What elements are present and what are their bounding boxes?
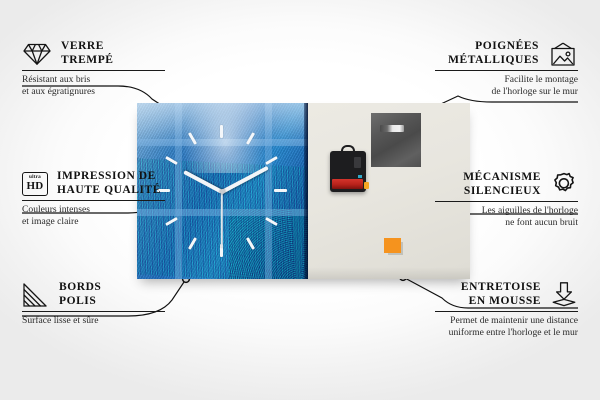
callout-rule [22, 200, 165, 201]
callout-title: IMPRESSION DE HAUTE QUALITÉ [57, 170, 161, 197]
callout-header-poignees: POIGNÉES MÉTALLIQUES [426, 40, 578, 67]
ultra-hd-icon-large-label: HD [26, 181, 43, 192]
ultra-hd-icon: ultra HD [22, 172, 48, 196]
callout-subtitle: Permet de maintenir une distance uniform… [426, 315, 578, 338]
callout-rule [435, 70, 578, 71]
callout-header-bords-polis: BORDS POLIS [22, 281, 174, 308]
callout-title: BORDS POLIS [59, 281, 101, 308]
callout-header-verre-trempe: VERRE TREMPÉ [22, 40, 174, 67]
callout-entretoise-en-mousse: ENTRETOISE EN MOUSSE Permet de maintenir… [426, 281, 578, 338]
callout-rule [435, 311, 578, 312]
callout-subtitle: Les aiguilles de l'horloge ne font aucun… [426, 205, 578, 228]
callout-impression-haute-qualite: ultra HD IMPRESSION DE HAUTE QUALITÉ Cou… [22, 170, 174, 227]
mechanism-indicator [358, 175, 362, 178]
callout-mecanisme-silencieux: MÉCANISME SILENCIEUX Les aiguilles de l'… [426, 171, 578, 228]
callout-title: VERRE TREMPÉ [61, 40, 114, 67]
diamond-icon [22, 41, 52, 67]
polished-edge-icon [22, 282, 50, 308]
callout-title: ENTRETOISE EN MOUSSE [461, 281, 541, 308]
infographic-canvas: VERRE TREMPÉ Résistant aux bris et aux é… [0, 0, 600, 400]
mechanism-hanging-loop [341, 145, 355, 155]
panel-bottom-shadow [308, 267, 470, 279]
clock-mechanism-part [330, 151, 366, 192]
foam-spacer-part [384, 238, 401, 253]
callout-rule [22, 70, 165, 71]
picture-hanger-icon [548, 41, 578, 67]
callout-title: POIGNÉES MÉTALLIQUES [448, 40, 539, 67]
metal-hanger-part [371, 113, 421, 167]
callout-subtitle: Surface lisse et sûre [22, 315, 174, 327]
clock-hands-hub [220, 189, 225, 194]
clock-tick-12 [220, 125, 223, 138]
callout-rule [22, 311, 165, 312]
battery-terminal [364, 182, 369, 189]
callout-header-impression: ultra HD IMPRESSION DE HAUTE QUALITÉ [22, 170, 174, 197]
callout-bords-polis: BORDS POLIS Surface lisse et sûre [22, 281, 174, 327]
product-image [137, 103, 470, 279]
battery-part [332, 179, 363, 189]
clock-glare [181, 103, 270, 173]
callout-subtitle: Couleurs intenses et image claire [22, 204, 174, 227]
callout-subtitle: Facilite le montage de l'horloge sur le … [426, 74, 578, 97]
hanger-slot [380, 125, 404, 132]
callout-title: MÉCANISME SILENCIEUX [463, 171, 541, 198]
clock-tick-3 [274, 189, 287, 192]
callout-poignees-metalliques: POIGNÉES MÉTALLIQUES Facilite le montage… [426, 40, 578, 97]
callout-verre-trempe: VERRE TREMPÉ Résistant aux bris et aux é… [22, 40, 174, 97]
gear-icon [550, 171, 578, 198]
callout-rule [435, 201, 578, 202]
callout-header-mecanisme: MÉCANISME SILENCIEUX [426, 171, 578, 198]
press-down-icon [550, 281, 578, 308]
callout-header-entretoise: ENTRETOISE EN MOUSSE [426, 281, 578, 308]
clock-second-hand [221, 191, 223, 247]
callout-subtitle: Résistant aux bris et aux égratignures [22, 74, 174, 97]
mechanism-adjust-knob [354, 157, 361, 168]
